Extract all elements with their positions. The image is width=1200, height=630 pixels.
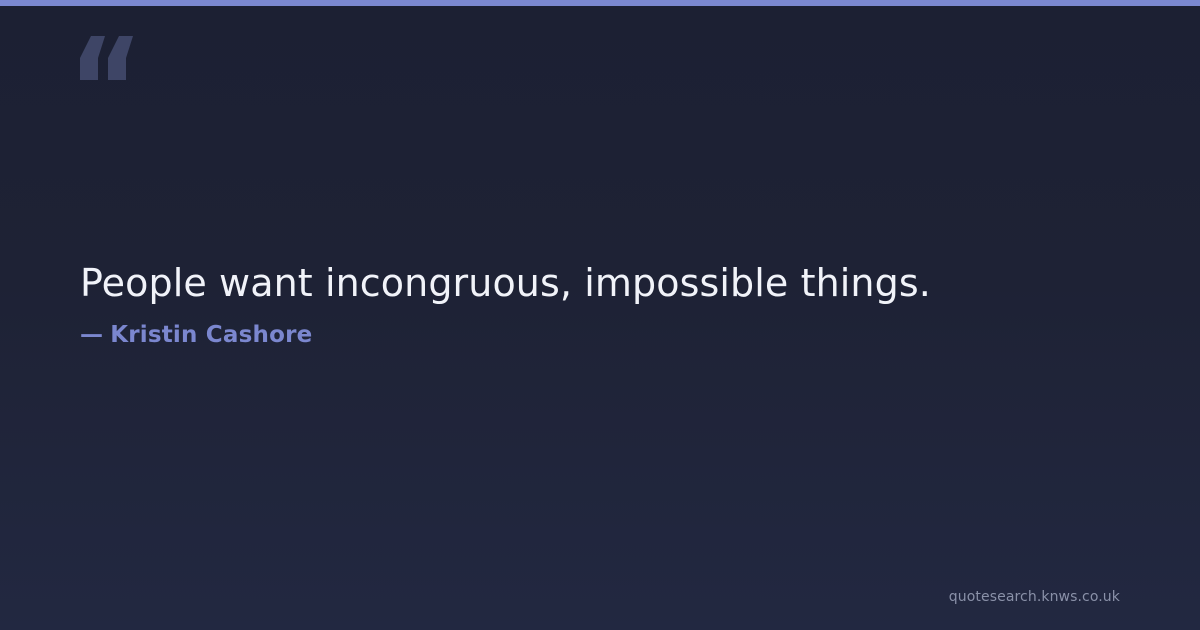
source-watermark: quotesearch.knws.co.uk (949, 589, 1120, 605)
double-quote-icon (78, 16, 138, 86)
quote-text: People want incongruous, impossible thin… (80, 258, 1140, 308)
quote-card: People want incongruous, impossible thin… (0, 0, 1200, 630)
quote-attribution: —Kristin Cashore (80, 322, 312, 348)
attribution-dash: — (80, 322, 103, 348)
author-name: Kristin Cashore (110, 322, 312, 348)
top-accent-bar (0, 0, 1200, 6)
